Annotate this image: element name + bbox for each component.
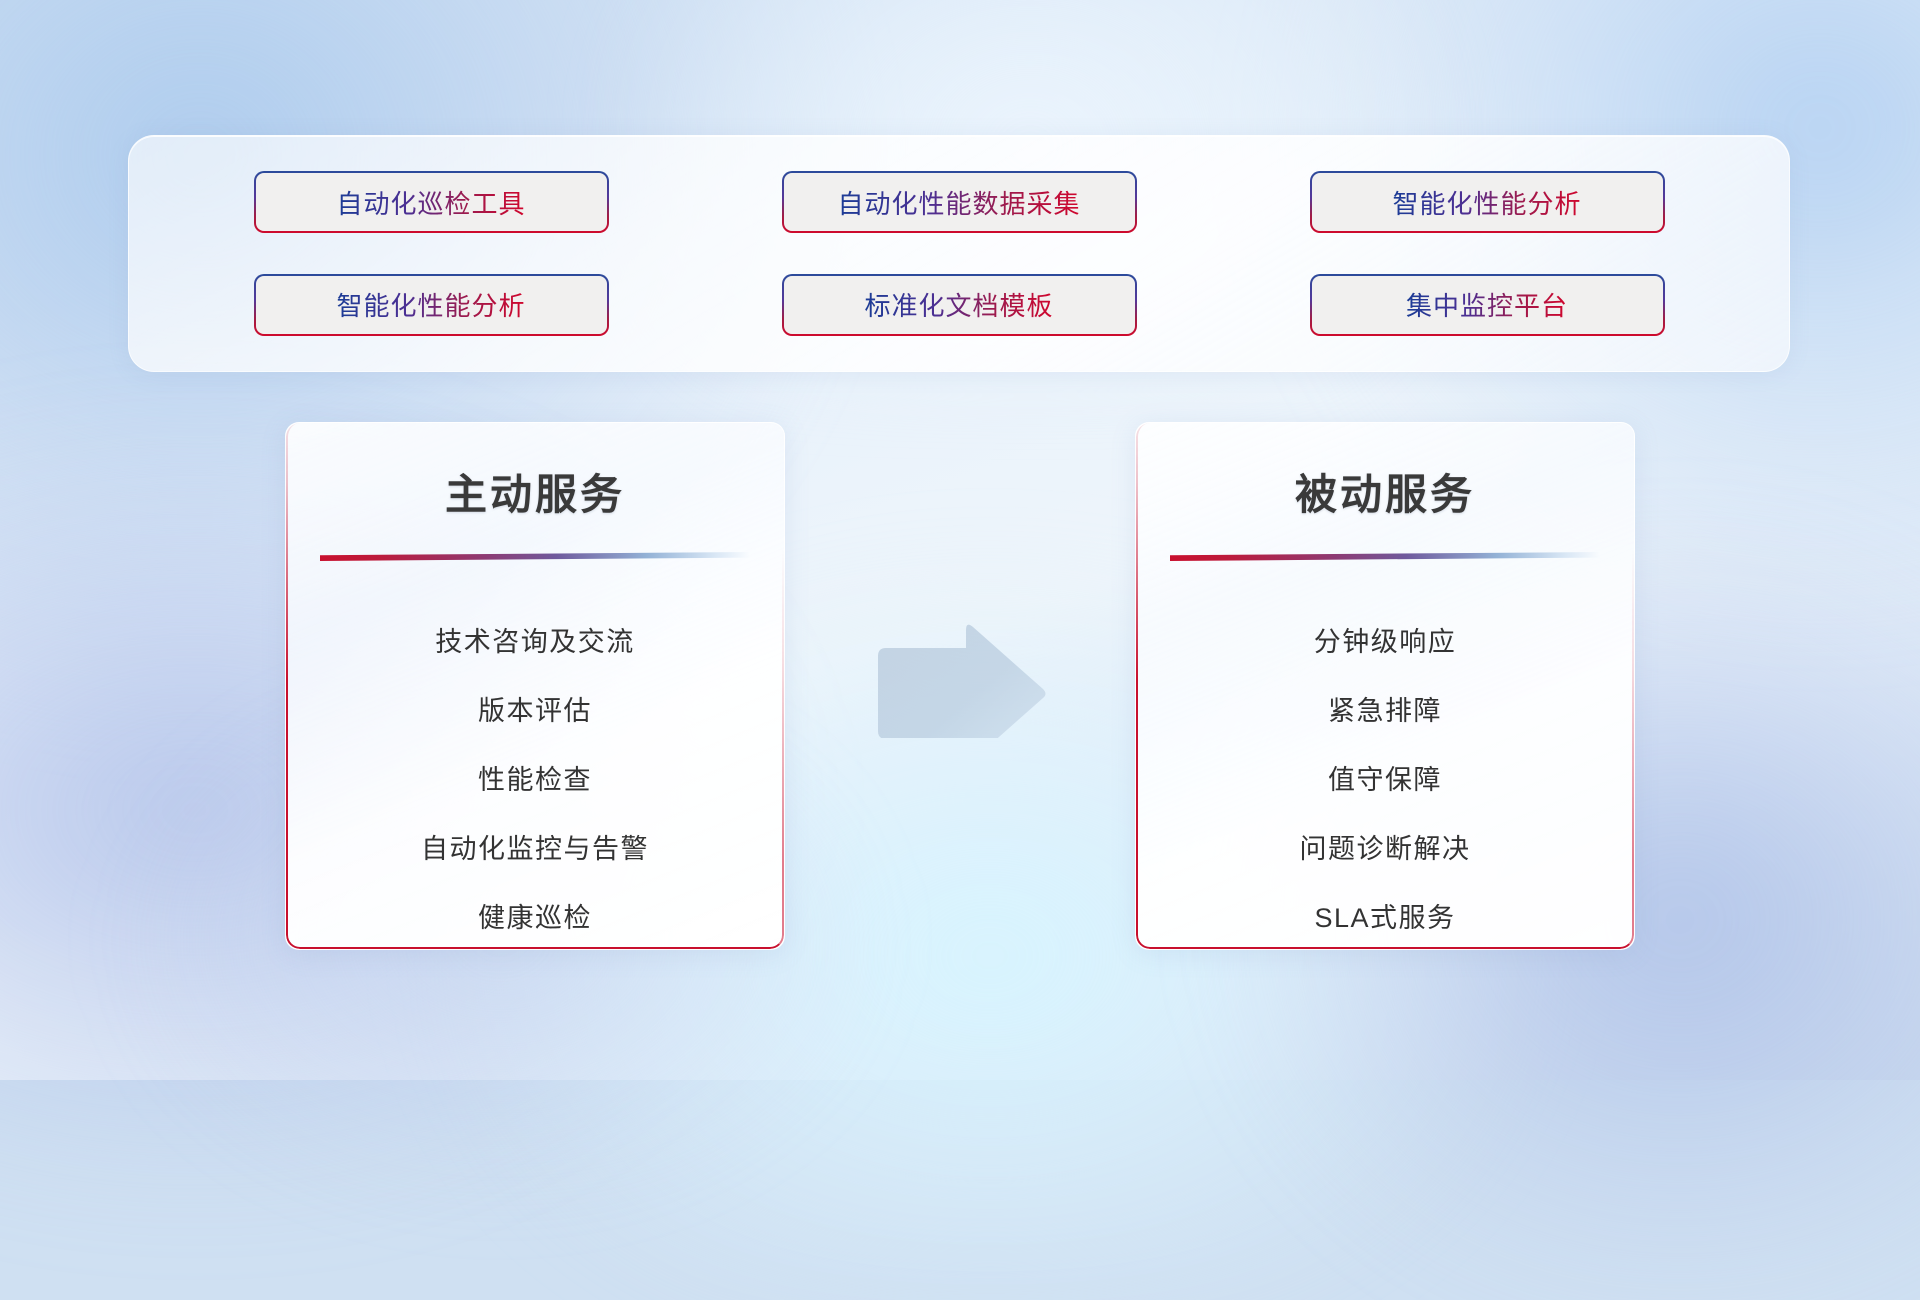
- capability-chip-automated-performance-data-collection[interactable]: 自动化性能数据采集: [782, 171, 1137, 233]
- card-title-passive: 被动服务: [1136, 423, 1634, 522]
- service-card-passive: 被动服务 分钟级响应 紧急排障 值守保障 问题诊断解决 SLA式服务: [1135, 422, 1635, 950]
- capability-chip-label: 自动化巡检工具: [336, 184, 525, 221]
- card-title-active: 主动服务: [286, 423, 784, 522]
- service-card-active: 主动服务 技术咨询及交流 版本评估 性能检查 自动化监控与告警 健康巡检: [285, 422, 785, 950]
- list-item: SLA式服务: [1136, 881, 1634, 950]
- capability-chip-label: 智能化性能分析: [1392, 184, 1581, 221]
- capability-chip-automated-inspection-tool[interactable]: 自动化巡检工具: [254, 171, 609, 233]
- list-item: 问题诊断解决: [1136, 812, 1634, 881]
- capability-chip-grid: 自动化巡检工具 自动化性能数据采集 智能化性能分析 智能化性能分析 标准化文档模…: [129, 136, 1789, 371]
- list-item: 紧急排障: [1136, 674, 1634, 743]
- list-item: 分钟级响应: [1136, 605, 1634, 674]
- capability-panel: 自动化巡检工具 自动化性能数据采集 智能化性能分析 智能化性能分析 标准化文档模…: [128, 135, 1790, 372]
- list-item: 性能检查: [286, 743, 784, 812]
- capability-chip-intelligent-performance-analysis-1[interactable]: 智能化性能分析: [1310, 171, 1665, 233]
- capability-chip-intelligent-performance-analysis-2[interactable]: 智能化性能分析: [254, 274, 609, 336]
- capability-chip-label: 智能化性能分析: [336, 286, 525, 323]
- list-item: 版本评估: [286, 674, 784, 743]
- list-item: 健康巡检: [286, 881, 784, 950]
- card-divider-passive: [1170, 552, 1600, 561]
- list-item: 技术咨询及交流: [286, 605, 784, 674]
- list-item: 自动化监控与告警: [286, 812, 784, 881]
- service-list-passive: 分钟级响应 紧急排障 值守保障 问题诊断解决 SLA式服务: [1136, 561, 1634, 950]
- list-item: 值守保障: [1136, 743, 1634, 812]
- capability-chip-centralized-monitoring-platform[interactable]: 集中监控平台: [1310, 274, 1665, 336]
- arrow-right-icon: [872, 622, 1048, 738]
- capability-chip-label: 集中监控平台: [1406, 286, 1568, 323]
- capability-chip-standardized-document-template[interactable]: 标准化文档模板: [782, 274, 1137, 336]
- service-list-active: 技术咨询及交流 版本评估 性能检查 自动化监控与告警 健康巡检: [286, 561, 784, 950]
- capability-chip-label: 自动化性能数据采集: [837, 184, 1080, 221]
- card-divider-active: [320, 552, 750, 561]
- capability-chip-label: 标准化文档模板: [864, 286, 1053, 323]
